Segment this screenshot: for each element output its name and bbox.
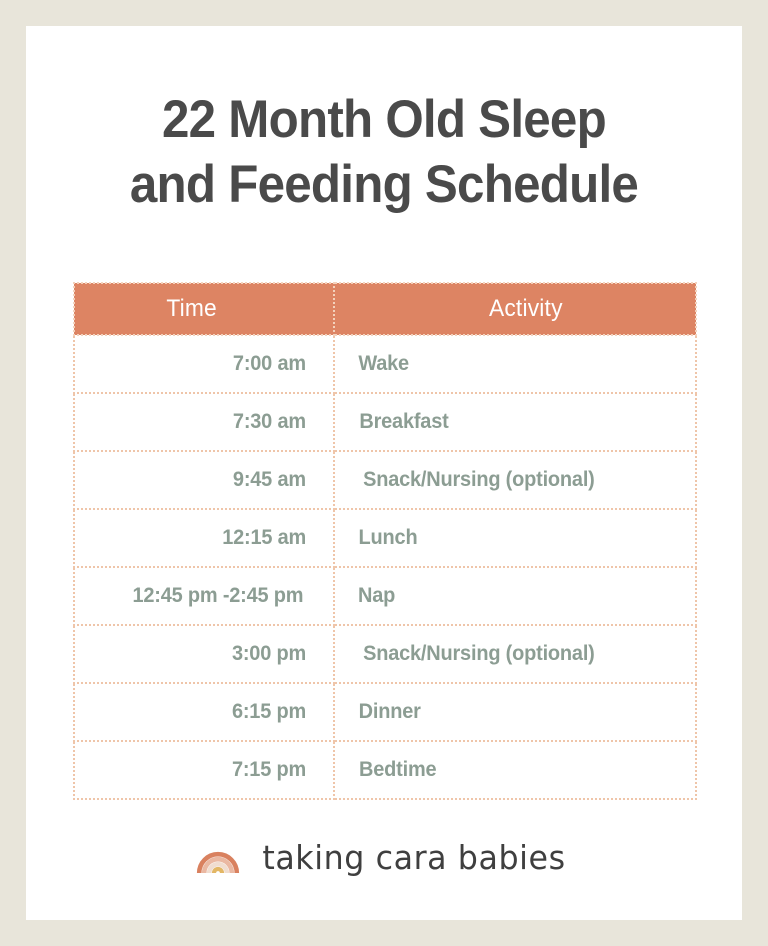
page-frame: 22 Month Old Sleep and Feeding Schedule … [0, 0, 768, 946]
cell-activity-label: Snack/Nursing (optional) [363, 468, 595, 492]
cell-time: 6:15 pm [74, 683, 334, 741]
cell-activity-label: Nap [358, 584, 395, 608]
table-row: 9:45 am Snack/Nursing (optional) [74, 451, 696, 509]
cell-time-label: 7:15 pm [232, 758, 306, 782]
cell-activity: Snack/Nursing (optional) [334, 625, 696, 683]
brand-logo: taking cara babies [26, 841, 742, 874]
cell-activity-label: Snack/Nursing (optional) [363, 642, 595, 666]
cell-time-label: 9:45 am [233, 468, 306, 492]
column-header-time: Time [74, 283, 334, 335]
column-header-time-label: Time [166, 295, 217, 323]
table-header: Time Activity [74, 283, 696, 335]
cell-activity: Wake [334, 335, 696, 393]
cell-time-label: 7:30 am [233, 410, 306, 434]
page-title-line-1: 22 Month Old Sleep [96, 88, 673, 153]
schedule-card: 22 Month Old Sleep and Feeding Schedule … [26, 26, 742, 920]
table-row: 7:15 pm Bedtime [74, 741, 696, 799]
cell-time: 9:45 am [74, 451, 334, 509]
cell-activity: Nap [334, 567, 696, 625]
cell-time: 7:30 am [74, 393, 334, 451]
rainbow-icon [196, 841, 240, 874]
cell-activity: Snack/Nursing (optional) [334, 451, 696, 509]
cell-activity: Breakfast [334, 393, 696, 451]
table-header-row: Time Activity [74, 283, 696, 335]
cell-time-label: 12:15 am [222, 526, 306, 550]
cell-activity-label: Breakfast [359, 410, 448, 434]
table-row: 7:00 am Wake [74, 335, 696, 393]
cell-time: 12:15 am [74, 509, 334, 567]
cell-activity-label: Dinner [359, 700, 421, 724]
table-row: 12:45 pm -2:45 pm Nap [74, 567, 696, 625]
cell-activity: Dinner [334, 683, 696, 741]
cell-activity-label: Wake [358, 352, 409, 376]
cell-time-label: 12:45 pm -2:45 pm [133, 584, 304, 608]
table-row: 7:30 am Breakfast [74, 393, 696, 451]
table-row: 12:15 am Lunch [74, 509, 696, 567]
column-header-activity: Activity [334, 283, 696, 335]
cell-activity-label: Bedtime [359, 758, 436, 782]
cell-time-label: 6:15 pm [232, 700, 306, 724]
cell-time: 12:45 pm -2:45 pm [74, 567, 334, 625]
cell-time: 3:00 pm [74, 625, 334, 683]
cell-time: 7:15 pm [74, 741, 334, 799]
cell-activity: Lunch [334, 509, 696, 567]
table-body: 7:00 am Wake 7:30 am Breakfast 9:45 am S… [74, 335, 696, 799]
schedule-table: Time Activity 7:00 am Wake 7:30 am Break… [73, 282, 697, 800]
page-title-line-2: and Feeding Schedule [96, 153, 673, 218]
page-title: 22 Month Old Sleep and Feeding Schedule [96, 88, 673, 217]
table-row: 3:00 pm Snack/Nursing (optional) [74, 625, 696, 683]
table-row: 6:15 pm Dinner [74, 683, 696, 741]
brand-logo-text: taking cara babies [262, 841, 565, 874]
cell-activity: Bedtime [334, 741, 696, 799]
cell-time: 7:00 am [74, 335, 334, 393]
cell-time-label: 7:00 am [233, 352, 306, 376]
column-header-activity-label: Activity [489, 295, 563, 323]
cell-activity-label: Lunch [359, 526, 418, 550]
cell-time-label: 3:00 pm [232, 642, 306, 666]
